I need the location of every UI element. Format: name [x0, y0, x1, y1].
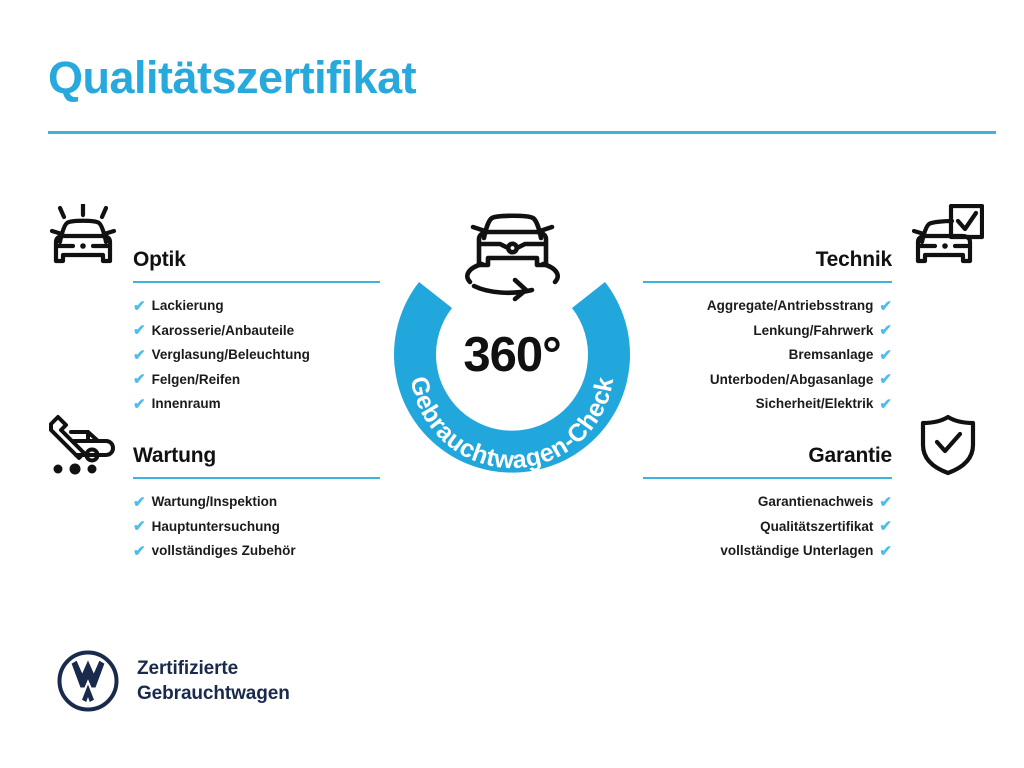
header-divider: [48, 131, 996, 134]
list-item-label: Garantienachweis: [758, 490, 874, 515]
section-garantie-title: Garantie: [808, 444, 892, 468]
list-item: ✔Karosserie/Anbauteile: [133, 319, 380, 344]
check-icon: ✔: [133, 495, 146, 510]
check-icon: ✔: [879, 495, 892, 510]
section-optik: Optik ✔Lackierung ✔Karosserie/Anbauteile…: [133, 238, 380, 417]
section-wartung-divider: [133, 477, 380, 479]
list-item: ✔Wartung/Inspektion: [133, 490, 380, 515]
list-item: Bremsanlage✔: [643, 343, 892, 368]
check-icon: ✔: [879, 397, 892, 412]
section-optik-header: Optik: [133, 238, 380, 272]
shield-check-icon: [918, 414, 978, 481]
section-technik-title: Technik: [816, 248, 892, 272]
list-item: Garantienachweis✔: [643, 490, 892, 515]
check-icon: ✔: [133, 397, 146, 412]
section-wartung-title: Wartung: [133, 444, 216, 468]
list-item: ✔Lackierung: [133, 294, 380, 319]
brand-line-1: Zertifizierte: [137, 656, 290, 681]
list-item: ✔Verglasung/Beleuchtung: [133, 343, 380, 368]
list-item-label: Innenraum: [152, 392, 221, 417]
list-item-label: Unterboden/Abgasanlage: [710, 368, 874, 393]
section-garantie-divider: [643, 477, 892, 479]
list-item: ✔vollständiges Zubehör: [133, 539, 380, 564]
check-icon: ✔: [133, 372, 146, 387]
section-optik-divider: [133, 281, 380, 283]
list-item: Sicherheit/Elektrik✔: [643, 392, 892, 417]
check-icon: ✔: [133, 519, 146, 534]
section-technik-divider: [643, 281, 892, 283]
check-icon: ✔: [879, 299, 892, 314]
list-item: Aggregate/Antriebsstrang✔: [643, 294, 892, 319]
check-icon: ✔: [879, 372, 892, 387]
check-icon: ✔: [879, 544, 892, 559]
list-item: Unterboden/Abgasanlage✔: [643, 368, 892, 393]
list-item-label: Lackierung: [152, 294, 224, 319]
section-optik-title: Optik: [133, 248, 186, 272]
list-item: ✔Felgen/Reifen: [133, 368, 380, 393]
page-title: Qualitätszertifikat: [48, 52, 416, 104]
list-item: Lenkung/Fahrwerk✔: [643, 319, 892, 344]
list-item-label: vollständige Unterlagen: [720, 539, 873, 564]
check-icon: ✔: [133, 544, 146, 559]
section-optik-list: ✔Lackierung ✔Karosserie/Anbauteile ✔Verg…: [133, 294, 380, 417]
brand-lockup: Zertifizierte Gebrauchtwagen: [57, 650, 290, 712]
check-icon: ✔: [879, 323, 892, 338]
check-icon: ✔: [133, 348, 146, 363]
list-item-label: Lenkung/Fahrwerk: [753, 319, 873, 344]
section-garantie-list: Garantienachweis✔ Qualitätszertifikat✔ v…: [643, 490, 892, 564]
check-icon: ✔: [879, 519, 892, 534]
section-garantie-header: Garantie: [643, 434, 892, 468]
section-garantie: Garantie Garantienachweis✔ Qualitätszert…: [643, 434, 892, 564]
section-wartung-list: ✔Wartung/Inspektion ✔Hauptuntersuchung ✔…: [133, 490, 380, 564]
section-technik: Technik Aggregate/Antriebsstrang✔ Lenkun…: [643, 238, 892, 417]
list-item-label: vollständiges Zubehör: [152, 539, 296, 564]
list-item-label: Hauptuntersuchung: [152, 515, 280, 540]
list-item-label: Qualitätszertifikat: [760, 515, 873, 540]
section-technik-header: Technik: [643, 238, 892, 272]
list-item-label: Wartung/Inspektion: [152, 490, 278, 515]
list-item-label: Sicherheit/Elektrik: [756, 392, 874, 417]
list-item-label: Karosserie/Anbauteile: [152, 319, 295, 344]
list-item: vollständige Unterlagen✔: [643, 539, 892, 564]
brand-line-2: Gebrauchtwagen: [137, 681, 290, 706]
brand-text: Zertifizierte Gebrauchtwagen: [137, 656, 290, 706]
list-item-label: Bremsanlage: [789, 343, 874, 368]
list-item-label: Aggregate/Antriebsstrang: [707, 294, 874, 319]
section-technik-list: Aggregate/Antriebsstrang✔ Lenkung/Fahrwe…: [643, 294, 892, 417]
list-item: ✔Hauptuntersuchung: [133, 515, 380, 540]
list-item-label: Felgen/Reifen: [152, 368, 241, 393]
check-icon: ✔: [133, 299, 146, 314]
check-icon: ✔: [133, 323, 146, 338]
list-item: Qualitätszertifikat✔: [643, 515, 892, 540]
badge-value: 360°: [372, 327, 652, 383]
car-front-checkbox-icon: [912, 204, 984, 279]
list-item-label: Verglasung/Beleuchtung: [152, 343, 310, 368]
list-item: ✔Innenraum: [133, 392, 380, 417]
section-wartung: Wartung ✔Wartung/Inspektion ✔Hauptunters…: [133, 434, 380, 564]
gebrauchtwagen-check-badge: Gebrauchtwagen-Check 360°: [372, 196, 652, 486]
car-front-shine-icon: [46, 204, 120, 279]
section-wartung-header: Wartung: [133, 434, 380, 468]
car-lift-wrench-icon: [46, 414, 120, 481]
volkswagen-logo: [57, 650, 119, 712]
car-front-rotate-icon: [460, 202, 565, 302]
check-icon: ✔: [879, 348, 892, 363]
